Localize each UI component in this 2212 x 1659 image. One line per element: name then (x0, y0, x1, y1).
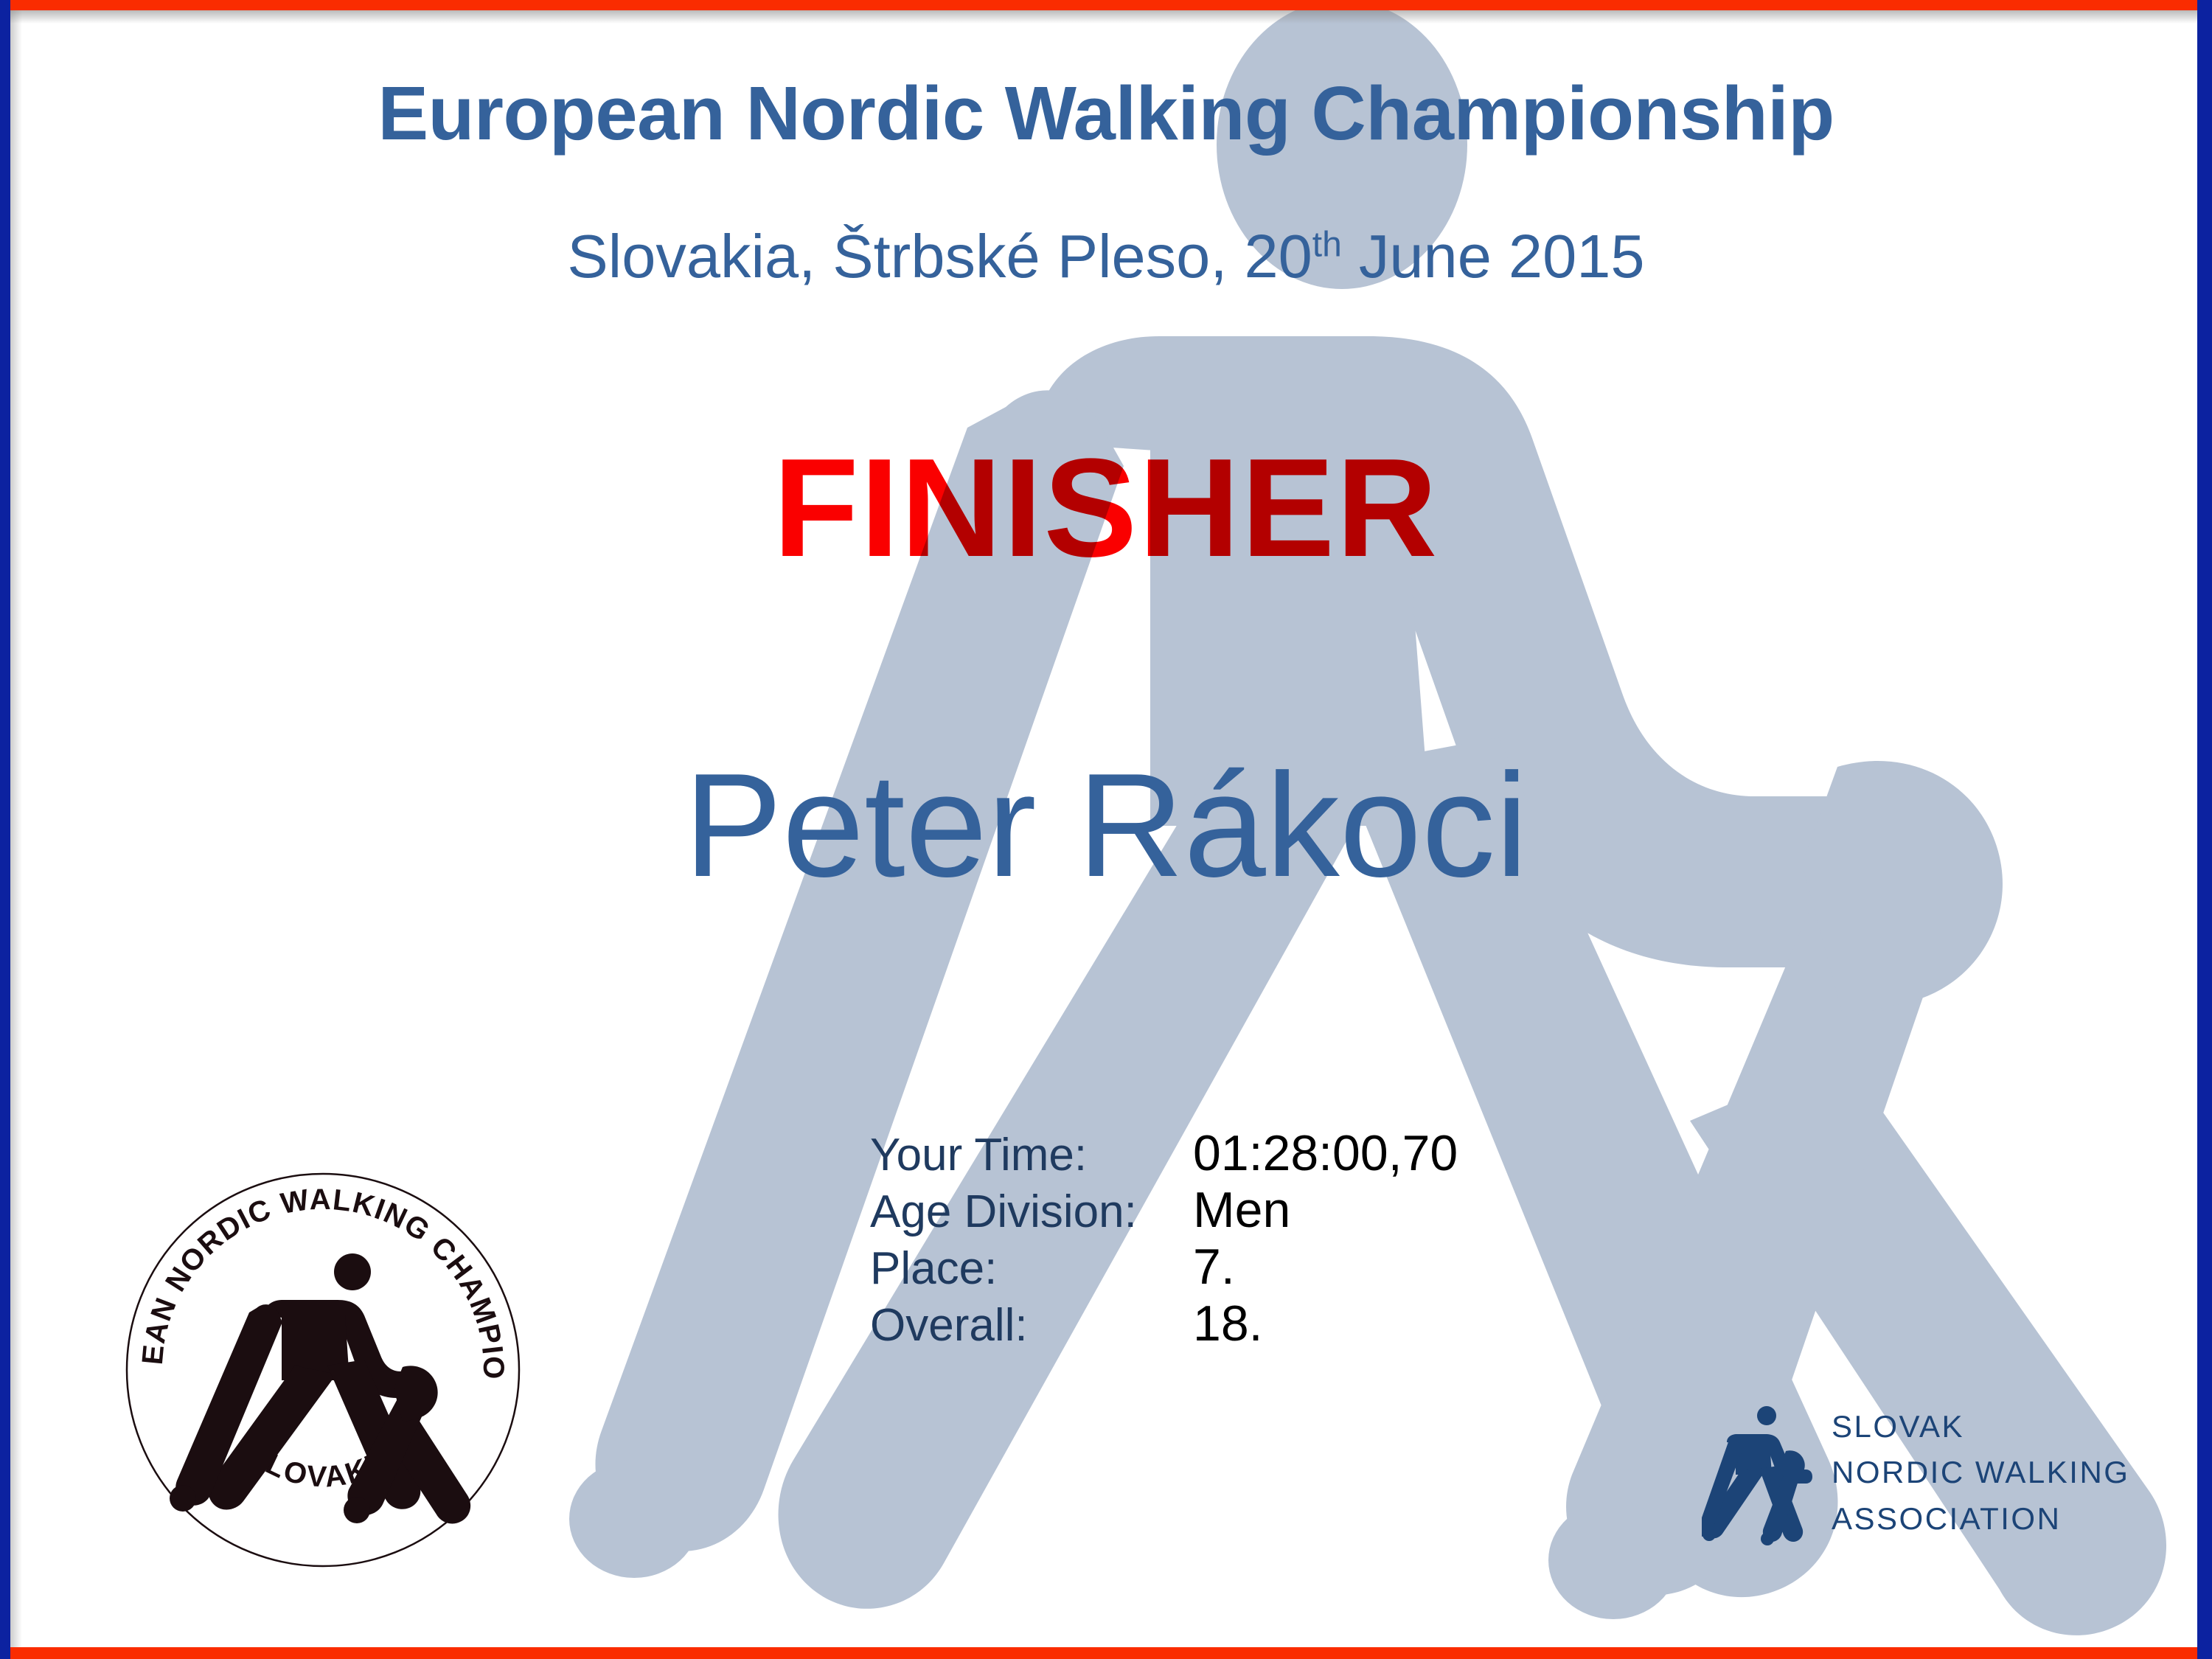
result-label-age-division: Age Division: (870, 1186, 1193, 1238)
result-label-overall: Overall: (870, 1299, 1193, 1352)
result-value-age-division: Men (1193, 1181, 1290, 1239)
association-name-line-3: ASSOCIATION (1832, 1496, 2129, 1542)
result-row-your-time: Your Time: 01:28:00,70 (870, 1124, 1458, 1181)
page-border-right (2197, 0, 2212, 1659)
event-month-year: June 2015 (1342, 222, 1645, 291)
championship-title: European Nordic Walking Championship (0, 70, 2212, 157)
page-border-left (0, 0, 10, 1659)
result-row-age-division: Age Division: Men (870, 1181, 1458, 1238)
result-label-place: Place: (870, 1242, 1193, 1295)
nordic-walker-icon (1702, 1399, 1812, 1547)
result-value-place: 7. (1193, 1238, 1235, 1295)
event-location-date: Slovakia, Štrbské Pleso, 20th June 2015 (0, 221, 2212, 292)
result-value-your-time: 01:28:00,70 (1193, 1124, 1458, 1182)
championship-circular-logo: EUROPEAN NORDIC WALKING CHAMPIONSHIP SLO… (124, 1171, 522, 1569)
event-location-prefix: Slovakia, Štrbské Pleso, 20 (567, 222, 1312, 291)
result-row-overall: Overall: 18. (870, 1295, 1458, 1352)
page-border-bottom (0, 1647, 2212, 1659)
slovak-nordic-walking-association-logo: SLOVAK NORDIC WALKING ASSOCIATION (1702, 1394, 2122, 1552)
results-table: Your Time: 01:28:00,70 Age Division: Men… (870, 1124, 1458, 1352)
result-value-overall: 18. (1193, 1295, 1263, 1352)
certificate-page: European Nordic Walking Championship Slo… (0, 0, 2212, 1659)
athlete-name: Peter Rákoci (0, 741, 2212, 911)
page-border-top (0, 0, 2212, 10)
date-ordinal-suffix: th (1312, 225, 1342, 264)
finisher-status-heading: FINISHER (0, 428, 2212, 588)
result-row-place: Place: 7. (870, 1238, 1458, 1295)
result-label-your-time: Your Time: (870, 1129, 1193, 1181)
association-name-line-1: SLOVAK (1832, 1404, 2129, 1450)
association-name-block: SLOVAK NORDIC WALKING ASSOCIATION (1832, 1404, 2129, 1541)
association-name-line-2: NORDIC WALKING (1832, 1450, 2129, 1495)
page-border-left-shadow (10, 10, 22, 1659)
page-border-top-shadow (10, 10, 2212, 24)
